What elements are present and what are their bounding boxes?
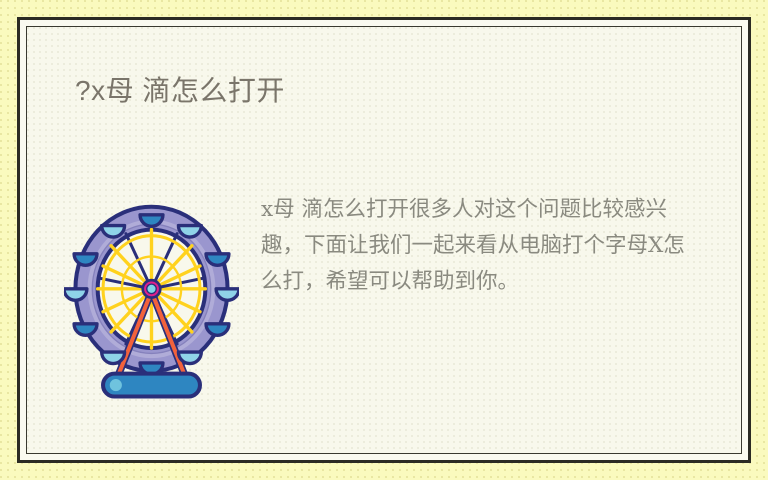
content-row: x母 滴怎么打开很多人对这个问题比较感兴趣，下面让我们一起来看从电脑打个字母X怎…	[27, 192, 741, 415]
wheel-base-platform	[103, 374, 200, 397]
outer-frame: ?x母 滴怎么打开	[17, 17, 751, 463]
ferris-wheel-illustration	[64, 200, 239, 415]
page-title: ?x母 滴怎么打开	[75, 73, 285, 108]
page-root: ?x母 滴怎么打开	[0, 0, 768, 480]
inner-frame: ?x母 滴怎么打开	[26, 26, 742, 454]
article-body-text: x母 滴怎么打开很多人对这个问题比较感兴趣，下面让我们一起来看从电脑打个字母X怎…	[261, 192, 701, 300]
wheel-hub	[141, 279, 161, 299]
ferris-wheel-icon	[64, 200, 239, 410]
